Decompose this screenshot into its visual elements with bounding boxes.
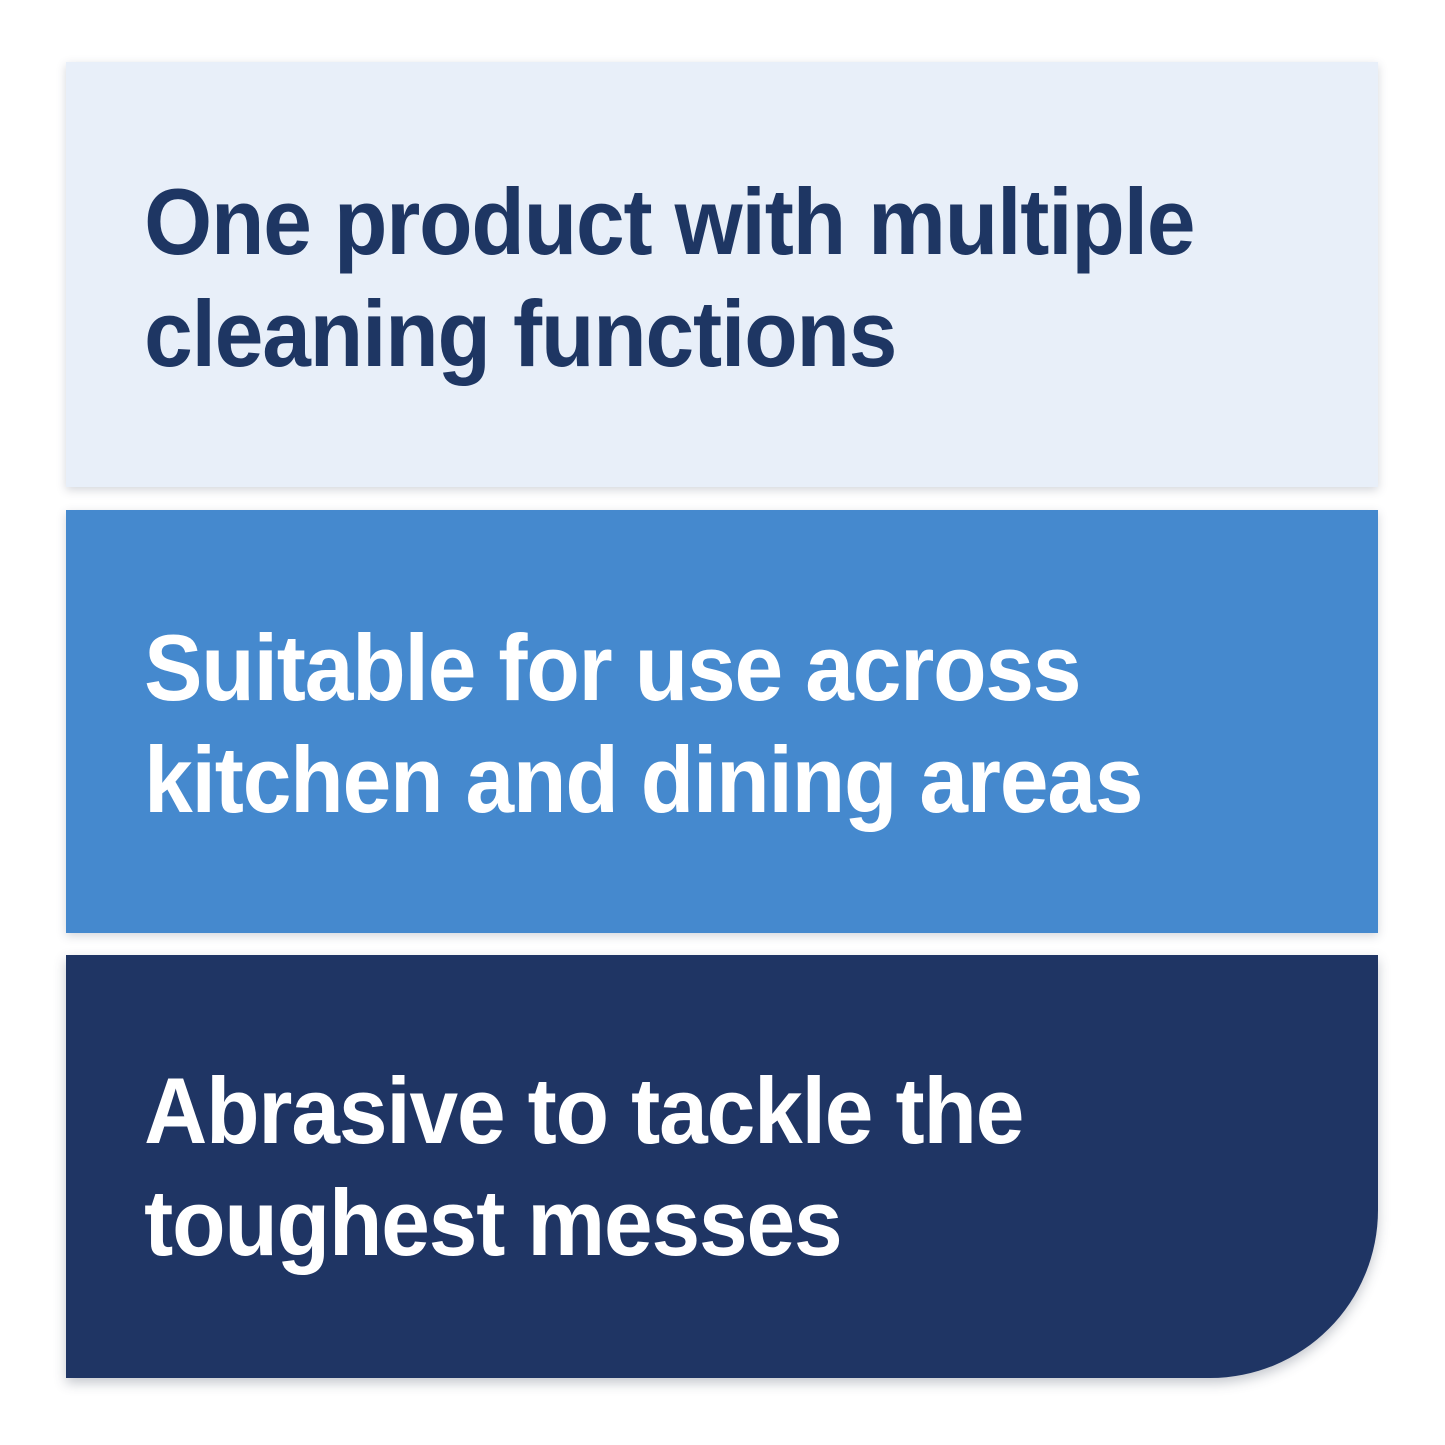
- feature-band-light: One product with multiple cleaning funct…: [66, 62, 1378, 487]
- feature-band-medium: Suitable for use across kitchen and dini…: [66, 510, 1378, 933]
- feature-band-light-text: One product with multiple cleaning funct…: [66, 160, 1286, 390]
- feature-callout-infographic: One product with multiple cleaning funct…: [0, 0, 1445, 1445]
- feature-band-medium-text: Suitable for use across kitchen and dini…: [66, 608, 1286, 836]
- feature-band-stack: One product with multiple cleaning funct…: [66, 62, 1378, 1378]
- feature-band-dark-text: Abrasive to tackle the toughest messes: [66, 1055, 1286, 1279]
- feature-band-dark: Abrasive to tackle the toughest messes: [66, 955, 1378, 1378]
